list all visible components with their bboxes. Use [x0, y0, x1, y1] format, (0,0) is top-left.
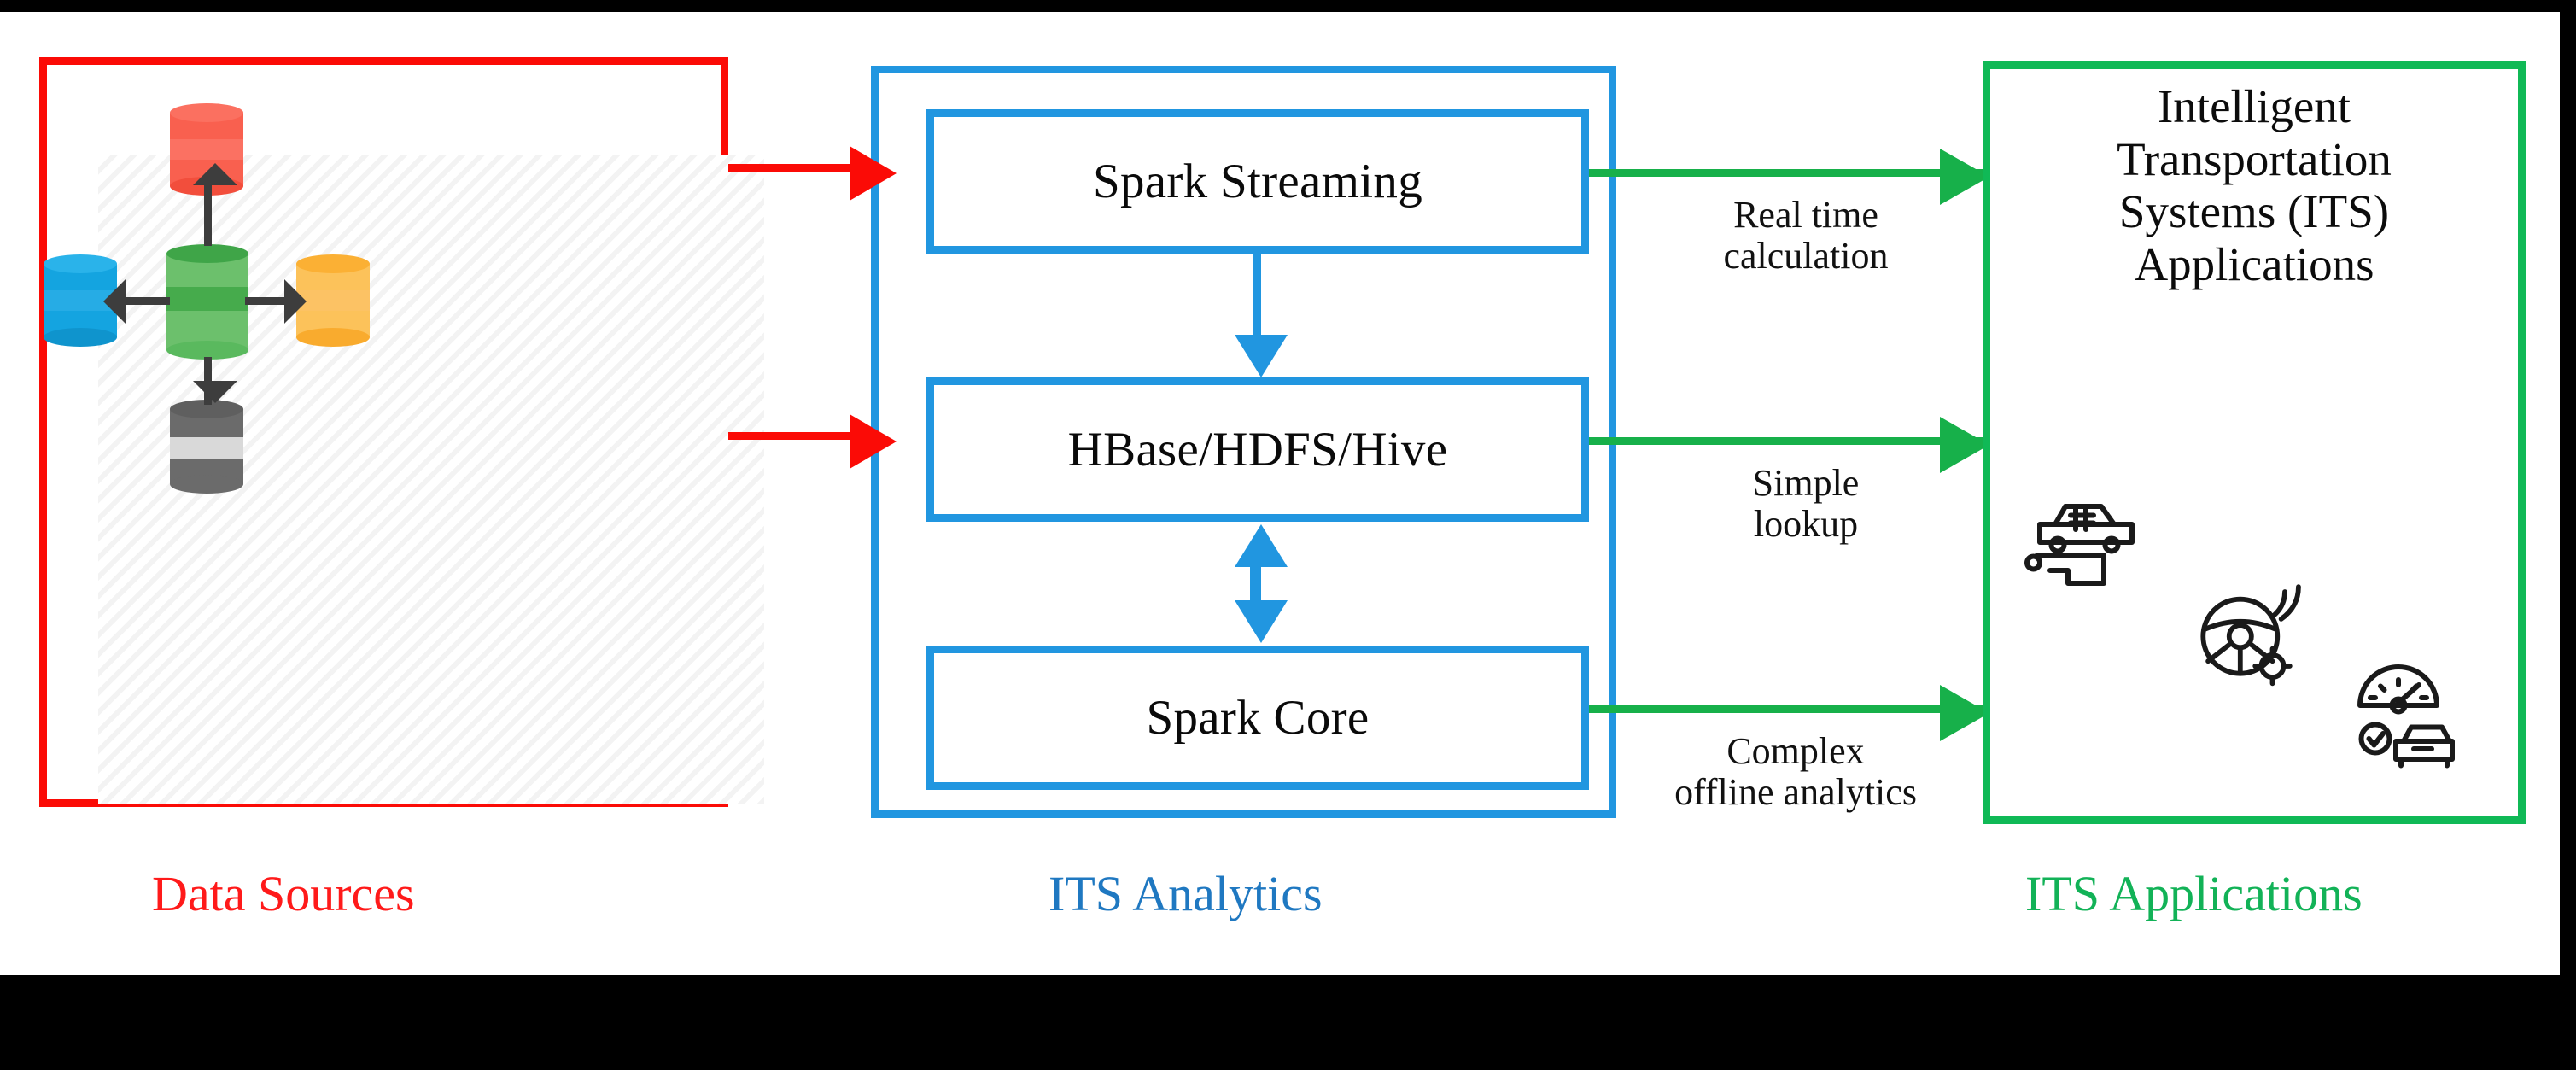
spark-core-label: Spark Core: [1146, 693, 1369, 742]
inbound-arrow-1-head: [850, 146, 897, 201]
flow-label-complex-offline-line2: offline analytics: [1612, 772, 1979, 813]
orange-database-icon: [296, 254, 370, 347]
inbound-arrow-2-head: [850, 414, 897, 469]
storage-core-shaft: [1250, 565, 1261, 603]
diagram-canvas: Spark Streaming HBase/HDFS/Hive Spark Co…: [0, 12, 2560, 975]
green-database-icon: [166, 244, 248, 360]
flow-label-simple-lookup: Simple lookup: [1648, 463, 1964, 544]
flow-label-complex-offline-line1: Complex: [1612, 731, 1979, 772]
flow-label-simple-lookup-line1: Simple: [1648, 463, 1964, 504]
flow-label-simple-lookup-line2: lookup: [1648, 504, 1964, 545]
apps-title-line-4: Applications: [1998, 238, 2510, 291]
flow-label-real-time: Real time calculation: [1648, 195, 1964, 276]
caption-data-sources: Data Sources: [152, 869, 415, 919]
hbase-hdfs-hive-label: HBase/HDFS/Hive: [1068, 425, 1448, 474]
arrow-down-head: [193, 381, 237, 403]
inbound-arrow-2-shaft: [728, 432, 856, 440]
connected-car-icon: [2022, 473, 2150, 601]
its-applications-title: Intelligent Transportation Systems (ITS)…: [1998, 80, 2510, 290]
arrow-left-head: [103, 279, 126, 324]
spark-streaming-box[interactable]: Spark Streaming: [926, 109, 1589, 254]
apps-title-line-2: Transportation: [1998, 133, 2510, 186]
apps-title-line-3: Systems (ITS): [1998, 185, 2510, 238]
grey-database-icon: [170, 400, 243, 494]
arrow-left-shaft: [126, 297, 170, 305]
hbase-hdfs-hive-box[interactable]: HBase/HDFS/Hive: [926, 377, 1589, 522]
spark-streaming-label: Spark Streaming: [1093, 157, 1422, 206]
arrow-right-head: [284, 279, 307, 324]
storage-to-core-arrowhead-down: [1235, 600, 1288, 643]
arrow-right-shaft: [245, 297, 289, 305]
inbound-arrow-1-shaft: [728, 164, 856, 172]
spark-core-box[interactable]: Spark Core: [926, 646, 1589, 790]
streaming-to-storage-arrowhead: [1235, 335, 1288, 377]
streaming-to-storage-shaft: [1253, 254, 1261, 341]
speedometer-car-icon: [2339, 644, 2468, 772]
storage-to-core-arrowhead-up: [1235, 524, 1288, 567]
flow-label-complex-offline: Complex offline analytics: [1612, 731, 1979, 812]
data-sources-panel: [39, 57, 728, 807]
steering-wheel-wireless-icon: [2186, 567, 2310, 691]
apps-title-line-1: Intelligent: [1998, 80, 2510, 133]
caption-its-analytics: ITS Analytics: [1049, 869, 1323, 919]
flow-label-real-time-line1: Real time: [1648, 195, 1964, 236]
flow-label-real-time-line2: calculation: [1648, 236, 1964, 277]
arrow-up-head: [193, 163, 237, 185]
arrow-up-shaft: [204, 183, 212, 246]
caption-its-applications: ITS Applications: [2025, 869, 2363, 919]
